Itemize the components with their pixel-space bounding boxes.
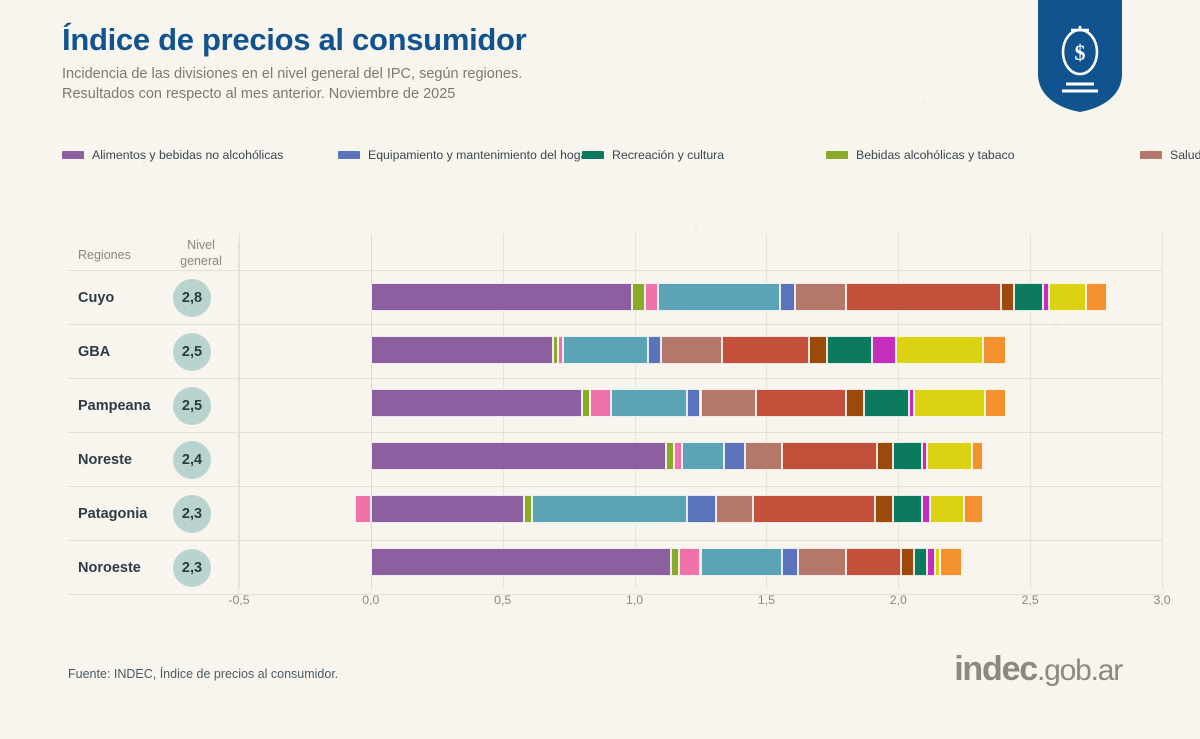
bar-segment[interactable] xyxy=(590,389,611,417)
bar-segment[interactable] xyxy=(877,442,893,470)
x-tick-label: 0,0 xyxy=(362,593,379,607)
nivel-general-line-2: general xyxy=(180,254,222,268)
source-note: Fuente: INDEC, Índice de precios al cons… xyxy=(68,667,338,681)
bar-segment[interactable] xyxy=(716,495,753,523)
bar-segment[interactable] xyxy=(864,389,909,417)
bar-segment[interactable] xyxy=(371,336,553,364)
bar-segment[interactable] xyxy=(927,548,935,576)
legend-item-label: Salud xyxy=(1170,148,1200,162)
bar-segment[interactable] xyxy=(611,389,687,417)
bar-segment[interactable] xyxy=(914,548,927,576)
bar-segment[interactable] xyxy=(940,548,961,576)
bar-segment[interactable] xyxy=(846,389,864,417)
legend-item[interactable]: Equipamiento y mantenimiento del hogar xyxy=(338,144,582,165)
bar-segment[interactable] xyxy=(1086,283,1107,311)
page-header: Índice de precios al consumidor Incidenc… xyxy=(62,24,526,105)
bar-segment[interactable] xyxy=(893,442,922,470)
bar-segment[interactable] xyxy=(756,389,846,417)
legend-swatch xyxy=(582,151,604,159)
bar-segment[interactable] xyxy=(782,548,798,576)
bar-row xyxy=(239,429,1162,482)
bar-segment[interactable] xyxy=(524,495,532,523)
bar-segment[interactable] xyxy=(687,495,716,523)
bar-segment[interactable] xyxy=(795,283,845,311)
legend-swatch xyxy=(338,151,360,159)
bar-segment[interactable] xyxy=(780,283,796,311)
column-header-nivel-general: Nivel general xyxy=(172,238,230,269)
bar-segment[interactable] xyxy=(532,495,688,523)
bar-segment[interactable] xyxy=(648,336,661,364)
bar-segment[interactable] xyxy=(1014,283,1043,311)
bar-segment[interactable] xyxy=(914,389,985,417)
bar-row xyxy=(239,482,1162,535)
bar-segment[interactable] xyxy=(371,283,632,311)
chart-legend: Alimentos y bebidas no alcohólicas Equip… xyxy=(62,144,1140,165)
x-tick-label: 2,5 xyxy=(1022,593,1039,607)
bar-segment[interactable] xyxy=(687,389,700,417)
page-subtitle: Incidencia de las divisiones en el nivel… xyxy=(62,64,526,105)
subtitle-line-2: Resultados con respecto al mes anterior.… xyxy=(62,84,526,105)
column-header-regiones: Regiones xyxy=(78,248,131,262)
region-label: Cuyo xyxy=(78,290,114,306)
legend-swatch xyxy=(1140,151,1162,159)
bar-segment[interactable] xyxy=(983,336,1007,364)
legend-item-label: Alimentos y bebidas no alcohólicas xyxy=(92,148,283,162)
x-tick-label: -0,5 xyxy=(228,593,249,607)
bar-segment[interactable] xyxy=(371,548,672,576)
indec-shield-logo: $ xyxy=(1038,0,1122,112)
nivel-general-line-1: Nivel xyxy=(187,238,215,252)
bar-row xyxy=(239,535,1162,588)
bar-segment[interactable] xyxy=(682,442,724,470)
status-badge: 2,5 xyxy=(173,333,211,371)
bar-segment[interactable] xyxy=(658,283,779,311)
bar-segment[interactable] xyxy=(985,389,1006,417)
region-label: GBA xyxy=(78,344,110,360)
legend-swatch xyxy=(62,151,84,159)
bar-segment[interactable] xyxy=(722,336,809,364)
region-label: Patagonia xyxy=(78,506,147,522)
bar-segment[interactable] xyxy=(809,336,827,364)
svg-text:$: $ xyxy=(1075,40,1086,65)
bar-segment[interactable] xyxy=(1001,283,1014,311)
x-tick-label: 3,0 xyxy=(1153,593,1170,607)
bar-segment[interactable] xyxy=(922,495,930,523)
status-badge: 2,5 xyxy=(173,387,211,425)
plot-area xyxy=(239,234,1162,589)
bar-segment[interactable] xyxy=(371,389,582,417)
x-tick-label: 0,5 xyxy=(494,593,511,607)
x-tick-label: 1,5 xyxy=(758,593,775,607)
status-badge: 2,3 xyxy=(173,549,211,587)
bar-segment[interactable] xyxy=(798,548,845,576)
legend-item[interactable]: Bebidas alcohólicas y tabaco xyxy=(826,144,1140,165)
bar-segment[interactable] xyxy=(753,495,874,523)
x-axis: -0,50,00,51,01,52,02,53,0 xyxy=(239,589,1162,613)
bar-segment[interactable] xyxy=(972,442,983,470)
bar-segment[interactable] xyxy=(927,442,972,470)
bar-segment[interactable] xyxy=(1049,283,1086,311)
bar-segment[interactable] xyxy=(701,389,756,417)
bar-segment[interactable] xyxy=(896,336,983,364)
bar-segment[interactable] xyxy=(355,495,371,523)
bar-segment[interactable] xyxy=(964,495,982,523)
bar-segment[interactable] xyxy=(875,495,893,523)
bar-segment[interactable] xyxy=(582,389,590,417)
bar-segment[interactable] xyxy=(632,283,645,311)
bar-segment[interactable] xyxy=(846,548,901,576)
brand-domain: .gob.ar xyxy=(1037,654,1122,687)
legend-item[interactable]: Salud xyxy=(1140,144,1200,165)
bar-segment[interactable] xyxy=(661,336,722,364)
stacked-bar-chart: Regiones Nivel general Cuyo2,8GBA2,5Pamp… xyxy=(68,234,1162,589)
legend-item[interactable]: Recreación y cultura xyxy=(582,144,826,165)
bar-segment[interactable] xyxy=(901,548,914,576)
bar-segment[interactable] xyxy=(930,495,964,523)
x-tick-label: 2,0 xyxy=(890,593,907,607)
bar-segment[interactable] xyxy=(671,548,679,576)
x-tick-label: 1,0 xyxy=(626,593,643,607)
bar-segment[interactable] xyxy=(666,442,674,470)
bar-segment[interactable] xyxy=(371,495,524,523)
bar-row xyxy=(239,323,1162,376)
region-label: Pampeana xyxy=(78,398,151,414)
brand-name: indec xyxy=(954,650,1037,688)
bar-segment[interactable] xyxy=(371,442,666,470)
status-badge: 2,4 xyxy=(173,441,211,479)
region-label: Noreste xyxy=(78,452,132,468)
bar-segment[interactable] xyxy=(645,283,658,311)
subtitle-line-1: Incidencia de las divisiones en el nivel… xyxy=(62,64,526,85)
bars-layer xyxy=(239,270,1162,588)
status-badge: 2,3 xyxy=(173,495,211,533)
bar-segment[interactable] xyxy=(745,442,782,470)
bar-segment[interactable] xyxy=(674,442,682,470)
bar-segment[interactable] xyxy=(782,442,877,470)
legend-item-label: Bebidas alcohólicas y tabaco xyxy=(856,148,1015,162)
legend-item-label: Equipamiento y mantenimiento del hogar xyxy=(368,148,592,162)
bar-row xyxy=(239,270,1162,323)
page-title: Índice de precios al consumidor xyxy=(62,24,526,57)
region-label: Noroeste xyxy=(78,560,141,576)
bar-segment[interactable] xyxy=(563,336,647,364)
gridline xyxy=(1162,234,1163,589)
bar-segment[interactable] xyxy=(827,336,872,364)
bar-row xyxy=(239,376,1162,429)
bar-segment[interactable] xyxy=(701,548,783,576)
bar-segment[interactable] xyxy=(679,548,700,576)
bar-segment[interactable] xyxy=(724,442,745,470)
legend-item-label: Recreación y cultura xyxy=(612,148,724,162)
status-badge: 2,8 xyxy=(173,279,211,317)
indec-wordmark: indec.gob.ar xyxy=(954,650,1122,689)
legend-item[interactable]: Alimentos y bebidas no alcohólicas xyxy=(62,144,338,165)
bar-segment[interactable] xyxy=(893,495,922,523)
bar-segment[interactable] xyxy=(846,283,1002,311)
bar-segment[interactable] xyxy=(872,336,896,364)
legend-swatch xyxy=(826,151,848,159)
